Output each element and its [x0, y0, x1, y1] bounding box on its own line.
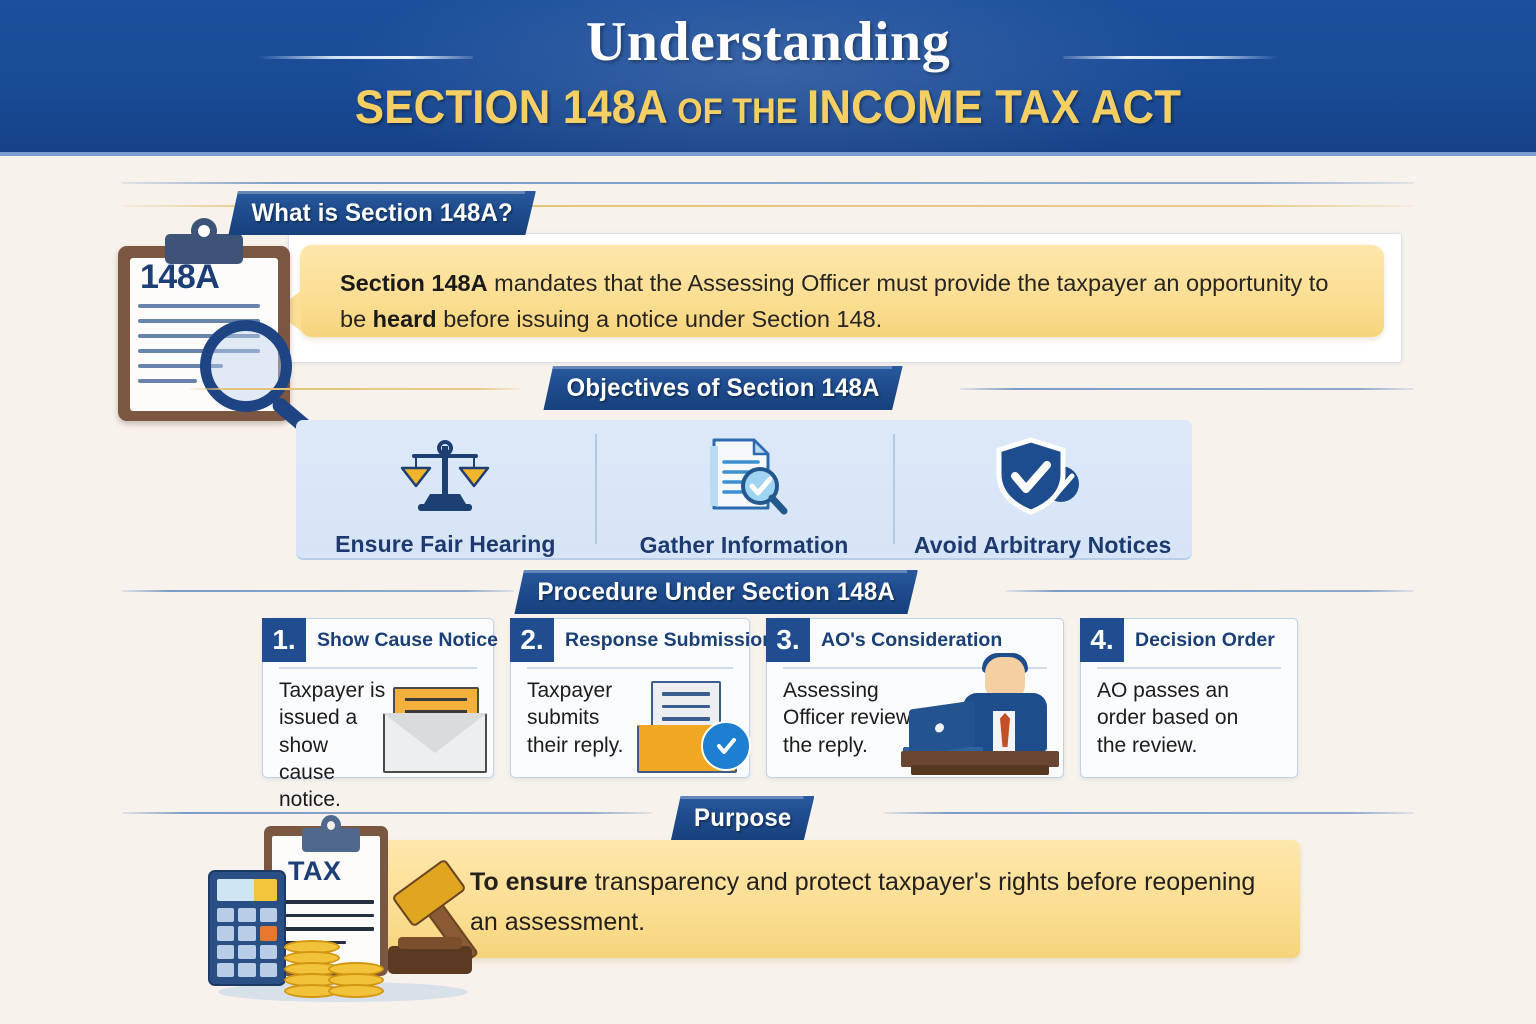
step-number-badge: 4. [1080, 618, 1124, 662]
header-of-the: OF THE [668, 92, 807, 131]
clipboard-148a-illustration: 148A [118, 228, 318, 428]
step-title: AO's Consideration [821, 629, 1055, 652]
objective-item-gather-information[interactable]: Gather Information [595, 420, 894, 558]
step-divider [1097, 667, 1281, 669]
procedure-step-4[interactable]: 4. Decision Order AO passes an order bas… [1080, 618, 1298, 778]
step-title: Response Submission [565, 629, 741, 652]
scales-of-justice-icon [400, 436, 490, 515]
envelope-icon [375, 687, 487, 771]
header-banner: Understanding SECTION 148A OF THE INCOME… [0, 0, 1536, 152]
ribbon-purpose: Purpose [671, 796, 814, 840]
magnifier-icon [200, 320, 292, 412]
header-bottom-edge [0, 152, 1536, 156]
tax-label: TAX [288, 856, 342, 887]
ribbon-objectives: Objectives of Section 148A [543, 366, 902, 410]
header-title-line2: SECTION 148A OF THE INCOME TAX ACT [54, 83, 1482, 130]
step-body: AO passes an order based on the review. [1097, 677, 1265, 759]
step-body: Taxpayer is issued a show cause notice. [279, 677, 389, 813]
document-magnifier-icon [698, 436, 790, 516]
ribbon-procedure: Procedure Under Section 148A [514, 570, 918, 614]
objective-label: Gather Information [640, 532, 849, 559]
step-title: Show Cause Notice [317, 629, 485, 652]
gavel-icon [382, 874, 478, 978]
objectives-panel: Ensure Fair Hearing [296, 420, 1192, 560]
clipboard-label-148a: 148A [140, 258, 219, 297]
shield-check-icon [995, 436, 1091, 516]
step-number-badge: 1. [262, 618, 306, 662]
procedure-step-2[interactable]: 2. Response Submission Taxpayer submits … [510, 618, 750, 778]
step-body: Taxpayer submits their reply. [527, 677, 641, 759]
tax-clipboard-clip-icon [302, 828, 360, 852]
divider-procedure-right [1006, 590, 1414, 592]
objective-label: Avoid Arbitrary Notices [914, 532, 1172, 559]
procedure-step-3[interactable]: 3. AO's Consideration Assessing Officer … [766, 618, 1064, 778]
what-is-body-text: Section 148A mandates that the Assessing… [340, 266, 1360, 338]
header-act-name: INCOME TAX ACT [807, 80, 1181, 133]
ribbon-what-is-section-148a: What is Section 148A? [228, 191, 536, 235]
officer-laptop-icon [901, 655, 1059, 767]
step-number-badge: 2. [510, 618, 554, 662]
header-decoration-right-icon [1063, 56, 1278, 59]
divider-objectives-gold [190, 388, 520, 390]
infographic-canvas: Understanding SECTION 148A OF THE INCOME… [0, 0, 1536, 1024]
procedure-step-1[interactable]: 1. Show Cause Notice Taxpayer is issued … [262, 618, 494, 778]
purpose-body-text: To ensure transparency and protect taxpa… [470, 862, 1290, 942]
divider-top-blue [122, 182, 1414, 184]
divider-procedure-left [122, 590, 514, 592]
objective-item-avoid-arbitrary-notices[interactable]: Avoid Arbitrary Notices [893, 420, 1192, 558]
objective-label: Ensure Fair Hearing [335, 531, 555, 558]
envelope-check-icon [627, 681, 747, 773]
step-divider [527, 667, 733, 669]
header-title-line1: Understanding [0, 14, 1536, 70]
objective-item-ensure-fair-hearing[interactable]: Ensure Fair Hearing [296, 420, 595, 558]
calculator-icon [208, 870, 286, 986]
divider-objectives-blue [960, 388, 1414, 390]
step-divider [279, 667, 477, 669]
step-title: Decision Order [1135, 629, 1289, 652]
header-section-number: SECTION 148A [355, 80, 668, 133]
tax-illustration: TAX [208, 812, 488, 1002]
header-decoration-left-icon [258, 56, 473, 59]
divider-purpose-right [884, 812, 1414, 814]
step-number-badge: 3. [766, 618, 810, 662]
